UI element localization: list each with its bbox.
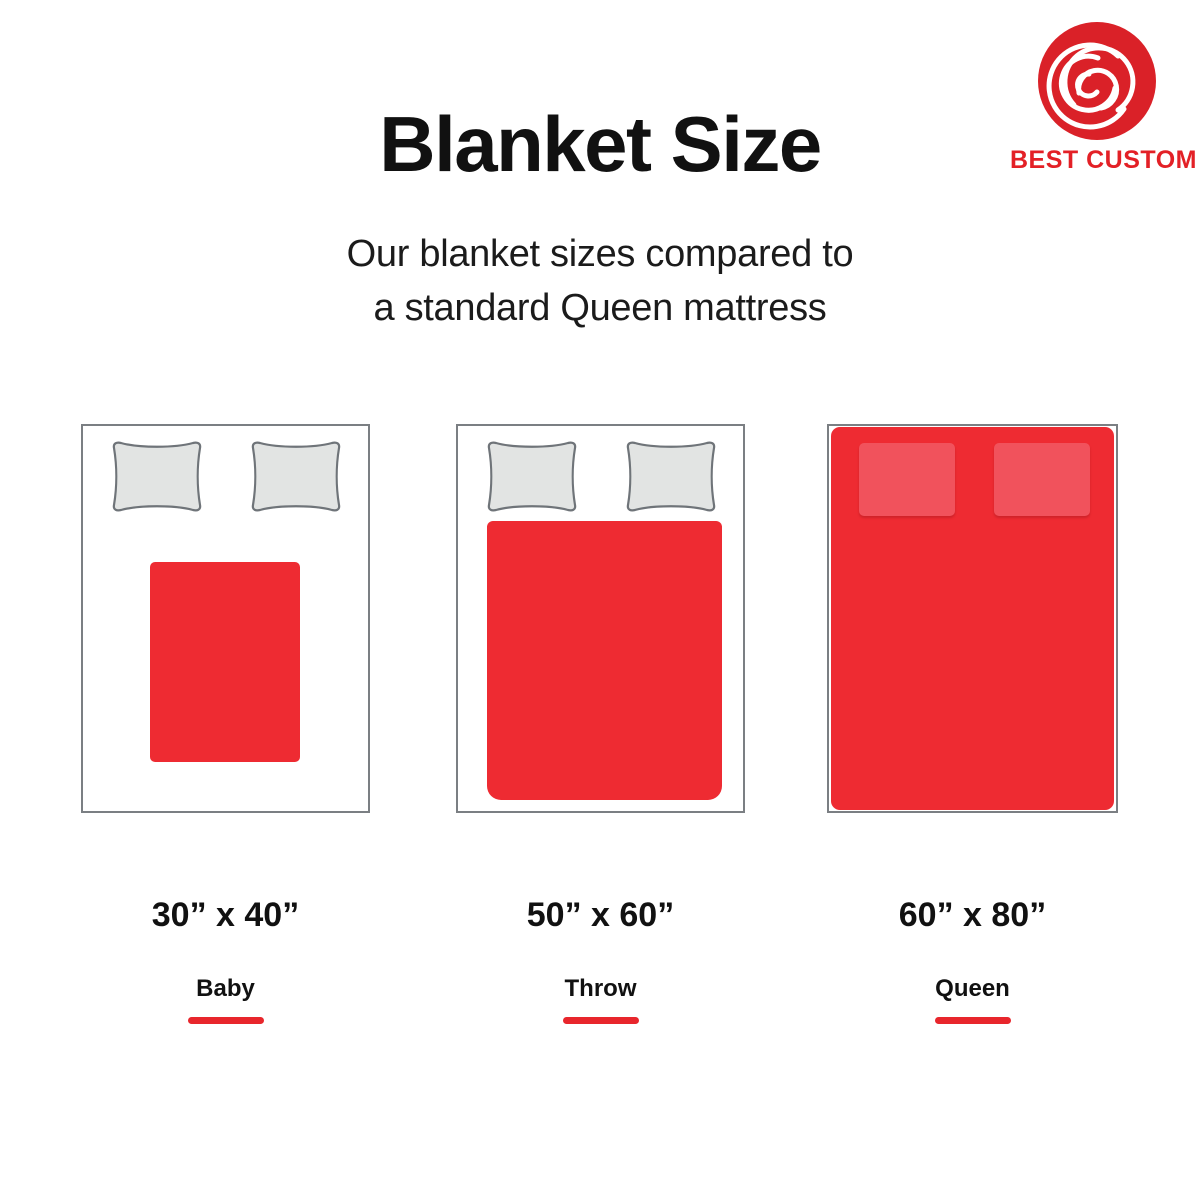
bed-diagram-queen	[827, 424, 1118, 813]
page-subtitle-line-2: a standard Queen mattress	[0, 282, 1200, 336]
pillow-icon-left-baby	[109, 440, 205, 513]
bed-comparison-diagram	[0, 424, 1200, 814]
size-name-label-baby: Baby	[81, 977, 370, 1001]
pillow-icon-left-queen	[859, 443, 955, 516]
accent-underline-baby	[188, 1017, 264, 1024]
page-subtitle-line-1: Our blanket sizes compared to	[0, 228, 1200, 282]
dimensions-label-throw: 50” x 60”	[456, 898, 745, 932]
size-name-label-throw: Throw	[456, 977, 745, 1001]
blanket-area-baby	[150, 562, 300, 762]
accent-underline-queen	[935, 1017, 1011, 1024]
pillow-icon-right-baby	[248, 440, 344, 513]
size-name-label-queen: Queen	[827, 977, 1118, 1001]
blanket-area-throw	[487, 521, 722, 800]
pillow-icon-left-throw	[484, 440, 580, 513]
accent-underline-throw	[563, 1017, 639, 1024]
caption-throw: 50” x 60” Throw	[456, 898, 745, 1024]
pillow-icon-right-throw	[623, 440, 719, 513]
pillow-icon-right-queen	[994, 443, 1090, 516]
page-title: Blanket Size	[0, 105, 1200, 183]
page-subtitle: Our blanket sizes compared to a standard…	[0, 228, 1200, 336]
bed-diagram-throw	[456, 424, 745, 813]
caption-baby: 30” x 40” Baby	[81, 898, 370, 1024]
dimensions-label-queen: 60” x 80”	[827, 898, 1118, 932]
caption-queen: 60” x 80” Queen	[827, 898, 1118, 1024]
blanket-area-queen	[831, 427, 1114, 810]
bed-diagram-baby	[81, 424, 370, 813]
dimensions-label-baby: 30” x 40”	[81, 898, 370, 932]
